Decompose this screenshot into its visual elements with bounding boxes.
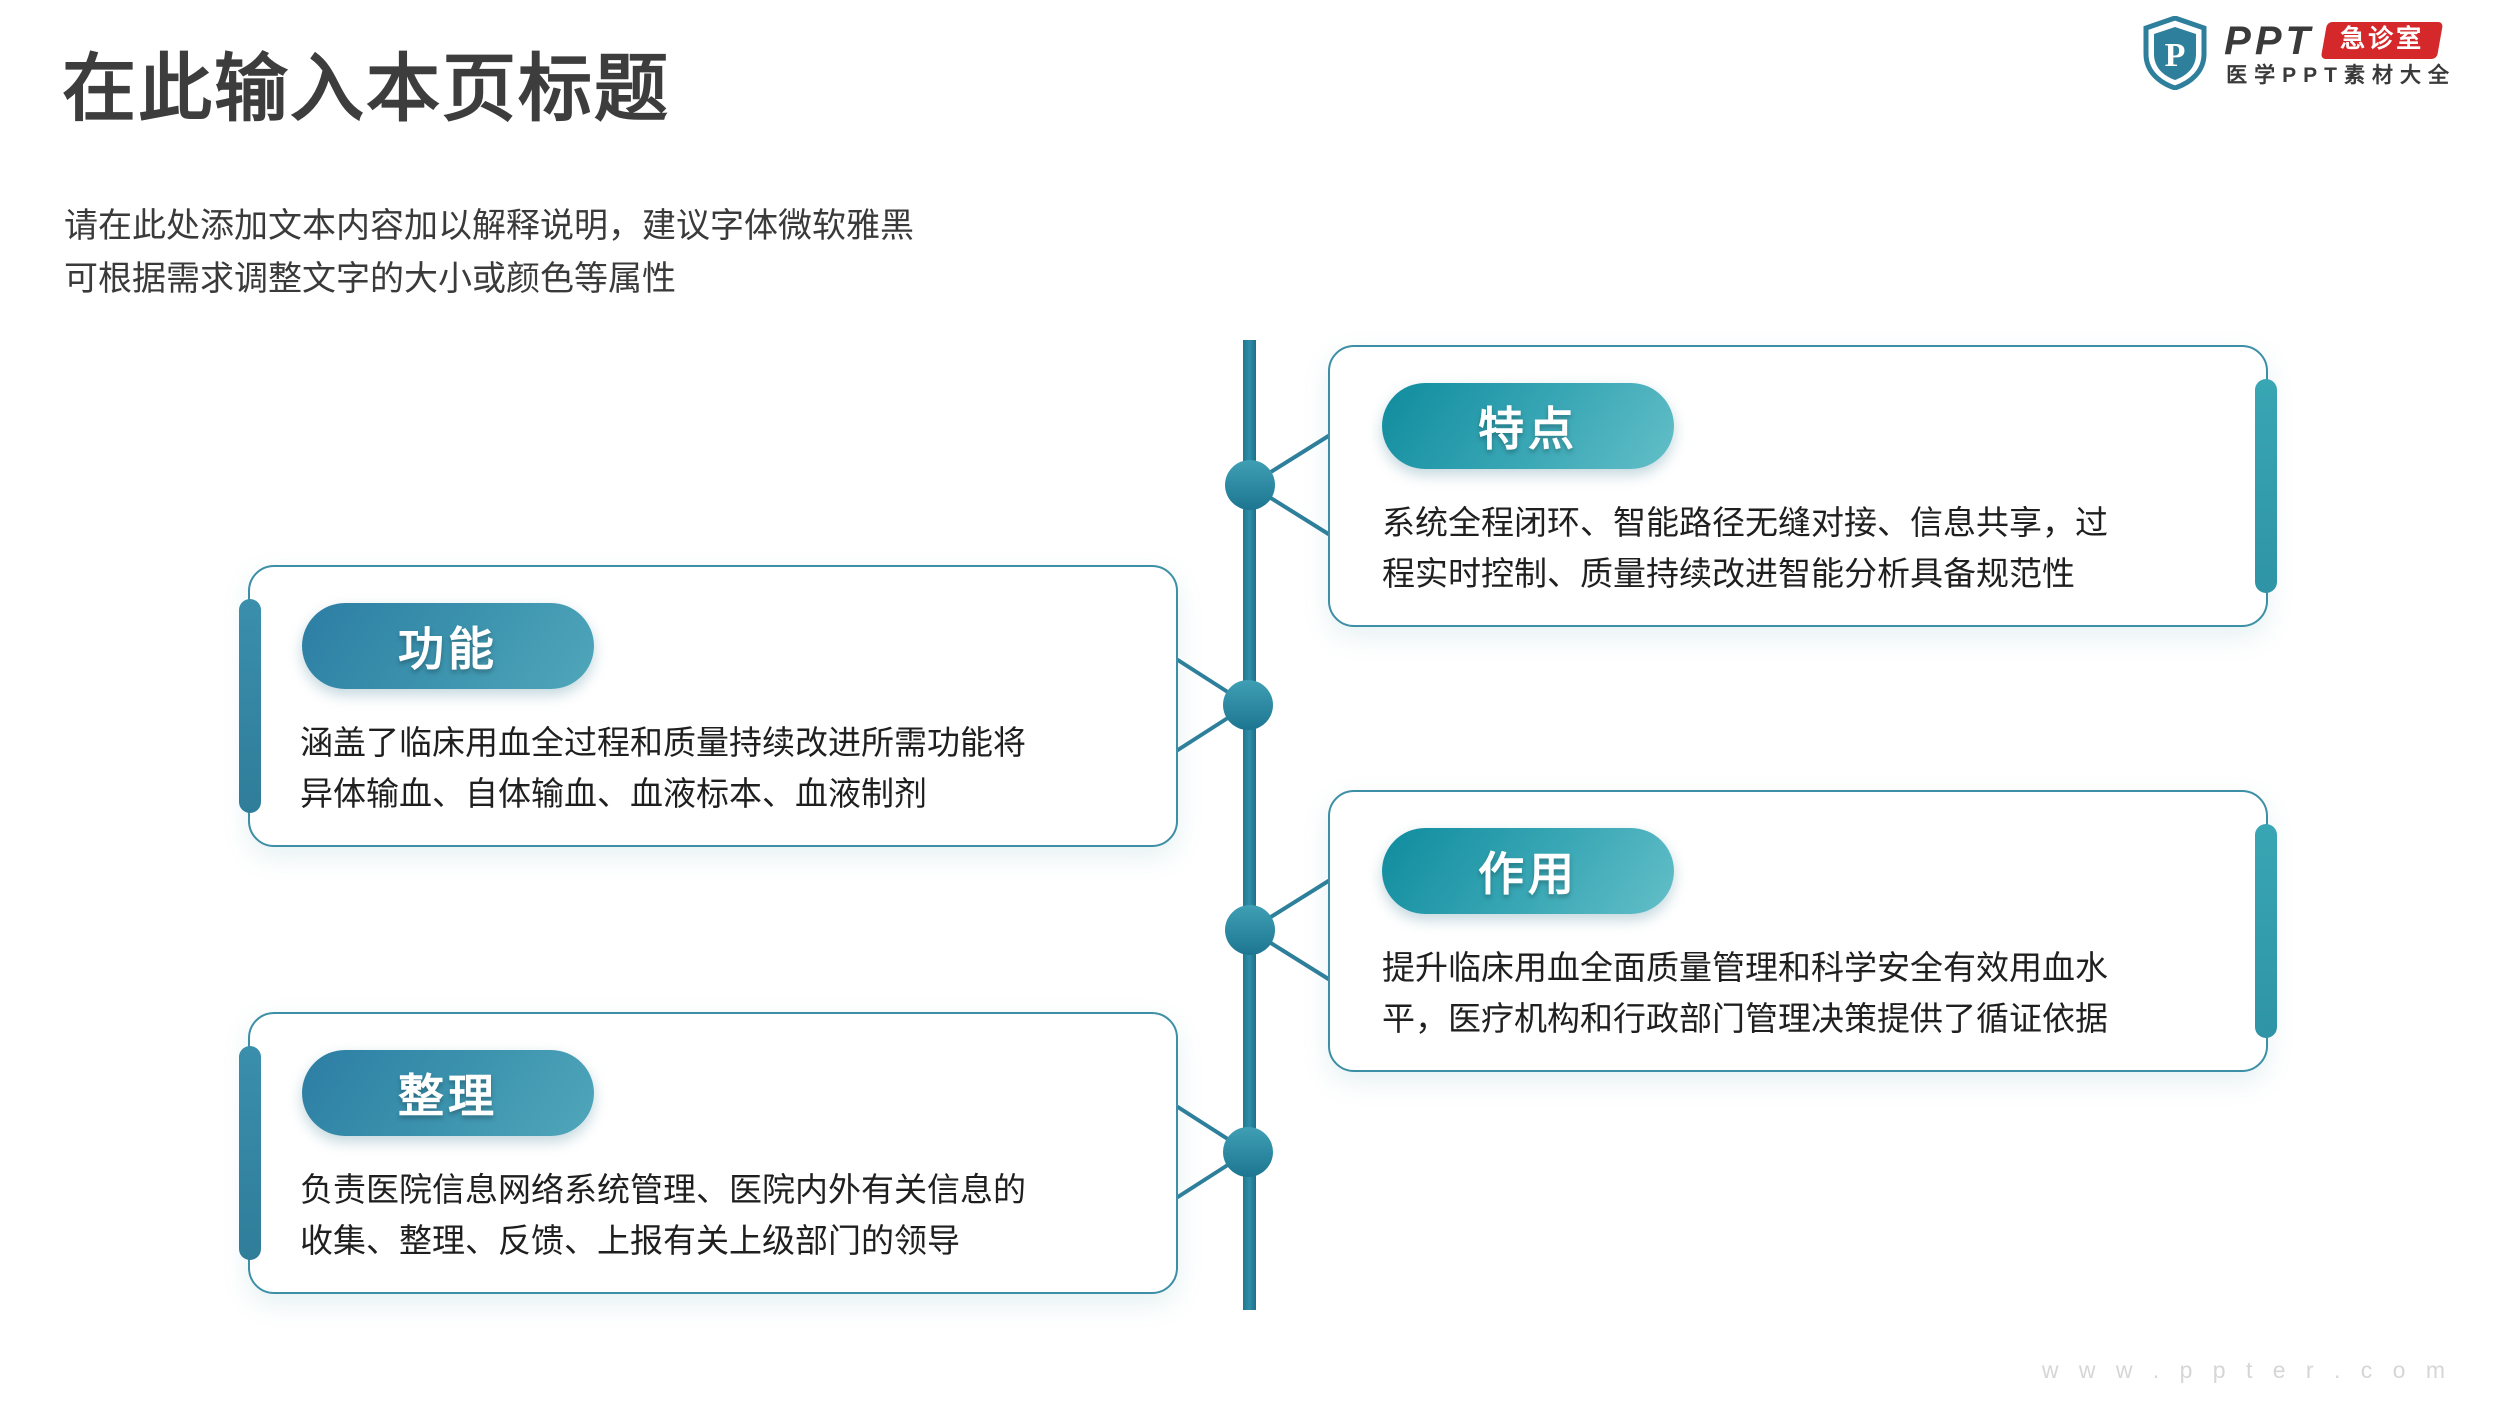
connector-1a	[1250, 435, 1330, 485]
slide-canvas: 在此输入本页标题 请在此处添加文本内容加以解释说明，建议字体微软雅黑 可根据需求…	[0, 0, 2500, 1406]
card-body-text: 涵盖了临床用血全过程和质量持续改进所需功能将 异体输血、自体输血、血液标本、血液…	[300, 717, 1132, 819]
card-accent-bar	[239, 599, 261, 813]
shield-icon: P	[2142, 16, 2208, 90]
card-badge: 功能	[302, 603, 594, 689]
card-body-text: 提升临床用血全面质量管理和科学安全有效用血水 平，医疗机构和行政部门管理决策提供…	[1382, 942, 2218, 1044]
card-zuo-yong[interactable]: 作用 提升临床用血全面质量管理和科学安全有效用血水 平，医疗机构和行政部门管理决…	[1328, 790, 2268, 1072]
card-badge: 作用	[1382, 828, 1674, 914]
card-body-text: 系统全程闭环、智能路径无缝对接、信息共享，过 程实时控制、质量持续改进智能分析具…	[1382, 497, 2218, 599]
card-te-dian[interactable]: 特点 系统全程闭环、智能路径无缝对接、信息共享，过 程实时控制、质量持续改进智能…	[1328, 345, 2268, 627]
logo-brand-text: PPT	[2224, 21, 2314, 61]
card-gong-neng[interactable]: 功能 涵盖了临床用血全过程和质量持续改进所需功能将 异体输血、自体输血、血液标本…	[248, 565, 1178, 847]
connector-4a	[1170, 1102, 1248, 1152]
watermark: w w w . p p t e r . c o m	[2042, 1357, 2452, 1384]
logo-tagline: 医学PPT素材大全	[2224, 65, 2456, 86]
connector-2a	[1170, 655, 1248, 705]
connector-2b	[1170, 705, 1248, 755]
logo-badge-text: 急诊室	[2340, 26, 2424, 54]
card-accent-bar	[239, 1046, 261, 1260]
connector-3b	[1250, 930, 1330, 980]
timeline-spine	[1243, 340, 1256, 1310]
page-title: 在此输入本页标题	[62, 52, 670, 126]
logo-badge: 急诊室	[2321, 22, 2443, 59]
connector-4b	[1170, 1152, 1248, 1202]
logo-text-block: PPT 急诊室 医学PPT素材大全	[2224, 21, 2456, 86]
card-body-text: 负责医院信息网络系统管理、医院内外有关信息的 收集、整理、反馈、上报有关上级部门…	[300, 1164, 1132, 1266]
page-subtitle: 请在此处添加文本内容加以解释说明，建议字体微软雅黑 可根据需求调整文字的大小或颜…	[64, 200, 914, 305]
card-zheng-li[interactable]: 整理 负责医院信息网络系统管理、医院内外有关信息的 收集、整理、反馈、上报有关上…	[248, 1012, 1178, 1294]
svg-text:P: P	[2165, 37, 2186, 74]
brand-logo: P PPT 急诊室 医学PPT素材大全	[2142, 10, 2456, 96]
card-accent-bar	[2255, 379, 2277, 593]
timeline-node-1	[1225, 460, 1275, 510]
card-badge: 整理	[302, 1050, 594, 1136]
connector-3a	[1250, 880, 1330, 930]
card-badge: 特点	[1382, 383, 1674, 469]
timeline-node-4	[1223, 1127, 1273, 1177]
timeline-node-2	[1223, 680, 1273, 730]
connector-1b	[1250, 485, 1330, 535]
card-accent-bar	[2255, 824, 2277, 1038]
timeline-node-3	[1225, 905, 1275, 955]
